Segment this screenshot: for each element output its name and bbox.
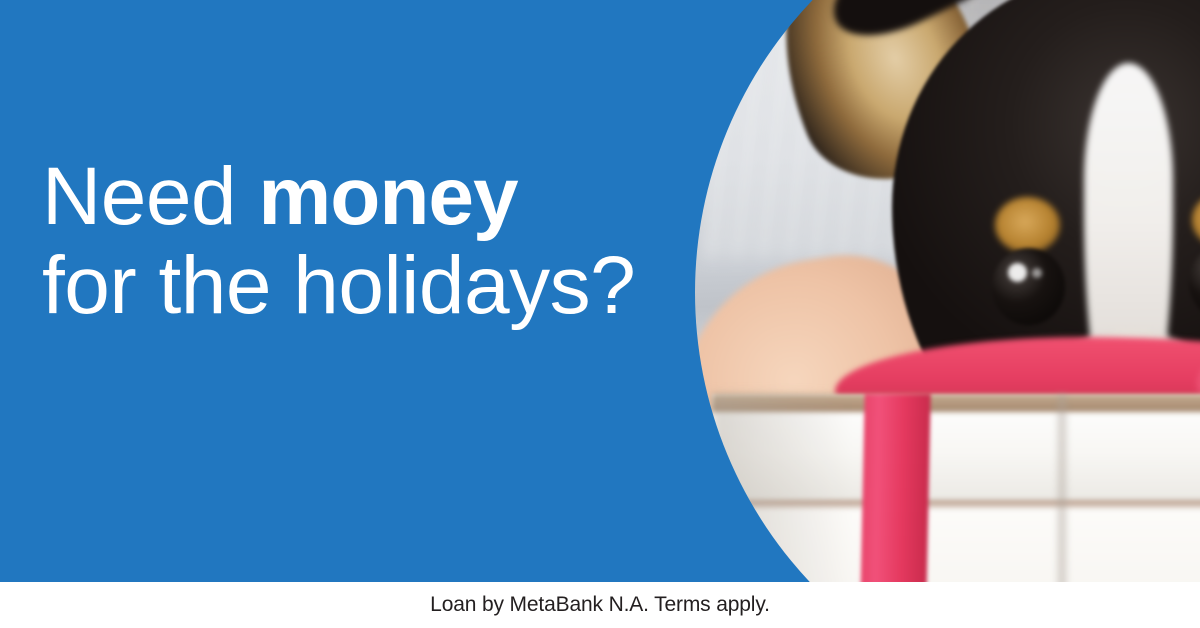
ribbon-vertical-left — [858, 394, 931, 582]
puppy-left-eye — [992, 248, 1065, 325]
headline: Need money for the holidays? — [42, 156, 635, 326]
gift-box — [712, 394, 1200, 582]
puppy-left-brow-marking — [995, 197, 1061, 253]
puppy-left-eye-highlight-secondary — [1032, 268, 1042, 278]
promo-banner: Need money for the holidays? Loan by Met… — [0, 0, 1200, 628]
gift-box-left-shading — [712, 394, 853, 582]
circular-photo — [695, 0, 1200, 582]
headline-line-1: Need money — [42, 156, 635, 237]
puppy-left-eye-highlight — [1008, 263, 1027, 281]
headline-line-1-prefix: Need — [42, 151, 258, 242]
headline-emphasis-money: money — [258, 151, 517, 242]
photo-backdrop — [695, 0, 1200, 582]
puppy-right-eye — [1189, 243, 1200, 320]
footer-bar: Loan by MetaBank N.A. Terms apply. — [0, 582, 1200, 628]
disclaimer-text: Loan by MetaBank N.A. Terms apply. — [430, 593, 770, 617]
headline-line-2: for the holidays? — [42, 245, 635, 326]
gift-box-corner — [1055, 394, 1069, 582]
puppy-right-brow-marking — [1192, 192, 1200, 248]
